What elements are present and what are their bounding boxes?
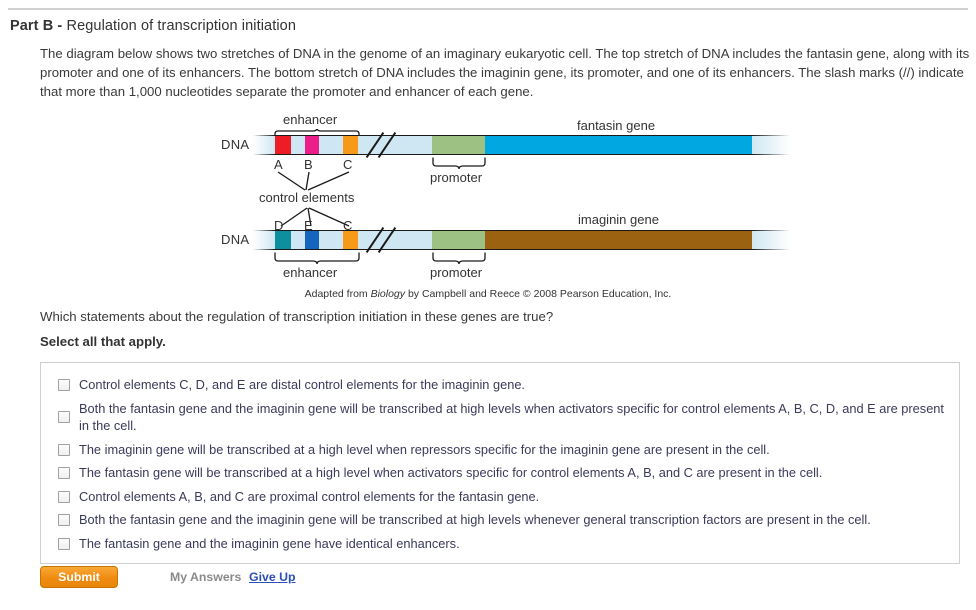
footer-actions: Submit My Answers Give Up [40, 564, 960, 600]
strand-fade-left-bottom [253, 230, 275, 250]
choice-label-7: The fantasin gene and the imaginin gene … [79, 535, 460, 553]
choice-label-1: Control elements C, D, and E are distal … [79, 376, 525, 394]
strand-fade-right-bottom [752, 230, 790, 250]
checkbox-6[interactable] [58, 514, 70, 526]
control-element-b [305, 135, 319, 155]
checkbox-4[interactable] [58, 467, 70, 479]
checkbox-1[interactable] [58, 379, 70, 391]
gene-body-imaginin [485, 230, 752, 250]
dna-strand-bottom [253, 230, 790, 250]
promoter-label-bottom: promoter [430, 265, 482, 280]
dna-label-top: DNA [221, 137, 249, 152]
submit-button[interactable]: Submit [40, 566, 118, 588]
choice-label-5: Control elements A, B, and C are proxima… [79, 488, 539, 506]
element-label-a: A [274, 157, 283, 172]
page-title: Part B - Regulation of transcription ini… [10, 18, 296, 34]
diagram-caption: Adapted from Biology by Campbell and Ree… [0, 288, 976, 300]
caption-after: by Campbell and Reece © 2008 Pearson Edu… [405, 288, 671, 300]
checkbox-5[interactable] [58, 491, 70, 503]
strand-edge-top-bottom [253, 230, 790, 231]
promoter-label-top: promoter [430, 170, 482, 185]
choice-label-4: The fantasin gene will be transcribed at… [79, 464, 822, 482]
checkbox-3[interactable] [58, 444, 70, 456]
caption-italic: Biology [371, 288, 405, 300]
control-element-a [275, 135, 291, 155]
choice-label-3: The imaginin gene will be transcribed at… [79, 441, 770, 459]
control-element-e [305, 230, 319, 250]
promoter-fantasin [432, 135, 485, 155]
promoter-brace-top [431, 157, 487, 169]
control-elements-leaders-top [265, 171, 375, 192]
control-elements-label: control elements [259, 190, 354, 205]
choice-option-4[interactable]: The fantasin gene will be transcribed at… [41, 461, 959, 485]
strand-fade-left-top [253, 135, 275, 155]
enhancer-brace-bottom [273, 252, 361, 264]
choice-option-1[interactable]: Control elements C, D, and E are distal … [41, 373, 959, 397]
choice-option-3[interactable]: The imaginin gene will be transcribed at… [41, 438, 959, 462]
enhancer-label-bottom: enhancer [283, 265, 337, 280]
enhancer-label-top: enhancer [283, 112, 337, 127]
choice-option-2[interactable]: Both the fantasin gene and the imaginin … [41, 397, 959, 438]
control-element-d [275, 230, 291, 250]
choice-option-7[interactable]: The fantasin gene and the imaginin gene … [41, 532, 959, 556]
promoter-brace-bottom [431, 252, 487, 264]
caption-before: Adapted from [305, 288, 371, 300]
part-title-text: Regulation of transcription initiation [62, 18, 296, 34]
strand-fade-right-top [752, 135, 790, 155]
part-label: Part B - [10, 18, 62, 34]
question-prompt: Which statements about the regulation of… [40, 309, 553, 324]
select-all-instruction: Select all that apply. [40, 334, 166, 349]
gene-body-fantasin [485, 135, 752, 155]
control-element-c-top [343, 135, 358, 155]
gene-name-fantasin: fantasin gene [577, 118, 655, 133]
page-root: Part B - Regulation of transcription ini… [0, 0, 976, 610]
give-up-link[interactable]: Give Up [249, 570, 295, 584]
strand-edge-bottom-top [253, 154, 790, 155]
dna-diagram: DNA enhancer fantasin gene [0, 108, 976, 308]
promoter-imaginin [432, 230, 485, 250]
intro-paragraph: The diagram below shows two stretches of… [40, 44, 970, 101]
top-divider [8, 8, 968, 10]
strand-edge-top-top [253, 135, 790, 136]
checkbox-2[interactable] [58, 411, 70, 423]
strand-edge-bottom-bottom [253, 249, 790, 250]
my-answers-link[interactable]: My Answers [170, 570, 241, 584]
element-label-c-top: C [343, 157, 352, 172]
checkbox-7[interactable] [58, 538, 70, 550]
dna-strand-top [253, 135, 790, 155]
gene-name-imaginin: imaginin gene [578, 212, 659, 227]
element-label-b: B [304, 157, 313, 172]
dna-label-bottom: DNA [221, 232, 249, 247]
answer-choices-list: Control elements C, D, and E are distal … [40, 362, 960, 564]
choice-option-5[interactable]: Control elements A, B, and C are proxima… [41, 485, 959, 509]
choice-option-6[interactable]: Both the fantasin gene and the imaginin … [41, 508, 959, 532]
control-element-c-bottom-seg [343, 230, 358, 250]
choice-label-6: Both the fantasin gene and the imaginin … [79, 511, 871, 529]
choice-label-2: Both the fantasin gene and the imaginin … [79, 400, 945, 435]
